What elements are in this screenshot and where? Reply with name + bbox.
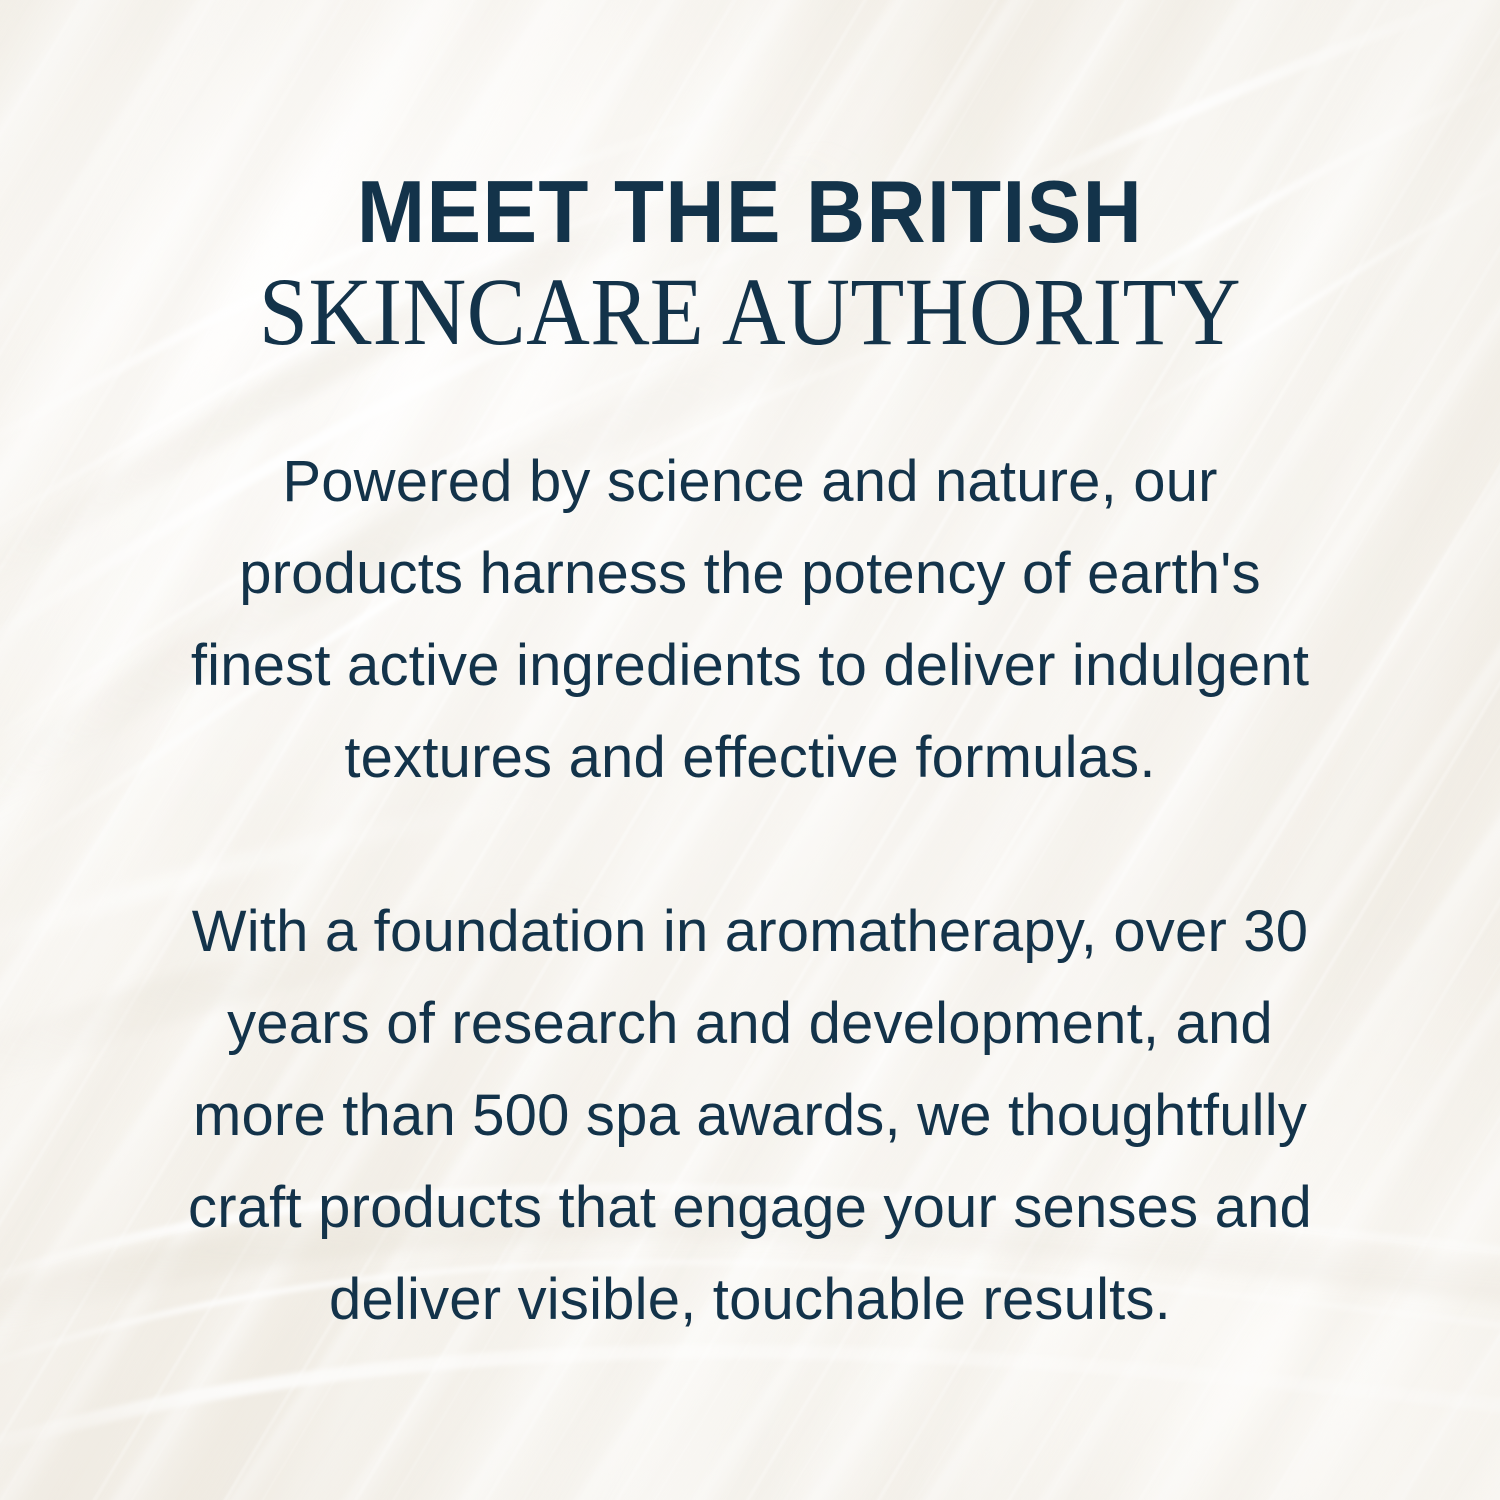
paragraph-line: finest active ingredients to deliver ind…	[115, 620, 1385, 712]
card-content: MEET THE BRITISH SKINCARE AUTHORITY Powe…	[0, 0, 1500, 1500]
paragraph-line: years of research and development, and	[115, 978, 1385, 1070]
paragraph-line: textures and effective formulas.	[115, 712, 1385, 804]
paragraph-line: products harness the potency of earth's	[115, 528, 1385, 620]
page-title: MEET THE BRITISH SKINCARE AUTHORITY	[0, 166, 1500, 362]
paragraph-line: With a foundation in aromatherapy, over …	[115, 886, 1385, 978]
paragraph-2: With a foundation in aromatherapy, over …	[115, 886, 1385, 1346]
brand-statement-card: MEET THE BRITISH SKINCARE AUTHORITY Powe…	[0, 0, 1500, 1500]
headline-line-primary: MEET THE BRITISH	[53, 166, 1448, 258]
body-copy: Powered by science and nature, our produ…	[115, 436, 1385, 1346]
paragraph-line: Powered by science and nature, our	[115, 436, 1385, 528]
paragraph-line: more than 500 spa awards, we thoughtfull…	[115, 1070, 1385, 1162]
headline-line-secondary: SKINCARE AUTHORITY	[60, 262, 1440, 362]
paragraph-1: Powered by science and nature, our produ…	[115, 436, 1385, 804]
paragraph-line: craft products that engage your senses a…	[115, 1162, 1385, 1254]
paragraph-line: deliver visible, touchable results.	[115, 1254, 1385, 1346]
